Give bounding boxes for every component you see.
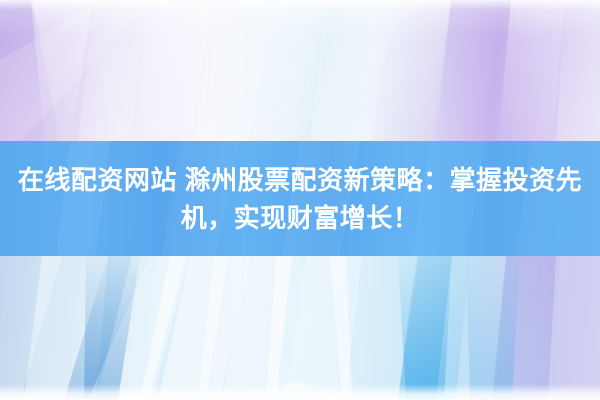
banner-top-gradient xyxy=(0,0,600,141)
promo-banner: 在线配资网站 滁州股票配资新策略：掌握投资先机，实现财富增长！ xyxy=(0,0,600,400)
banner-title: 在线配资网站 滁州股票配资新策略：掌握投资先机，实现财富增长！ xyxy=(6,161,594,237)
banner-bottom-gradient xyxy=(0,256,600,400)
banner-title-container: 在线配资网站 滁州股票配资新策略：掌握投资先机，实现财富增长！ xyxy=(0,141,600,256)
